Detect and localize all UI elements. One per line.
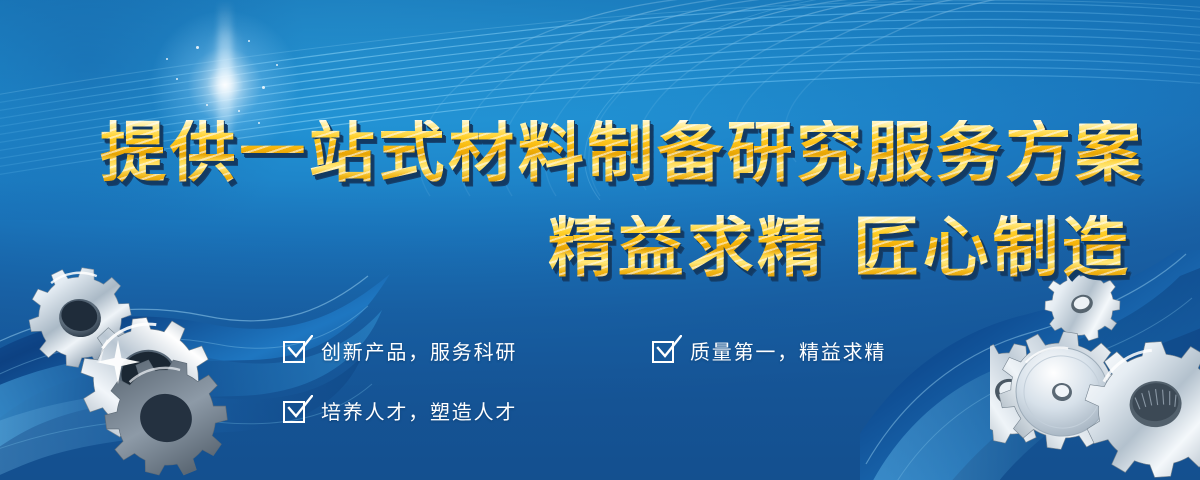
headline-line-2: 精益求精 匠心制造: [548, 215, 1132, 281]
bullet-item-talent: 培养人才，塑造人才: [283, 396, 517, 425]
checkbox-checked-icon: [283, 399, 307, 423]
headline-line-1: 提供一站式材料制备研究服务方案: [100, 120, 1144, 186]
bullet-label: 创新产品，服务科研: [321, 336, 517, 365]
checkbox-checked-icon: [652, 339, 676, 363]
bullet-label: 培养人才，塑造人才: [321, 396, 517, 425]
checkbox-checked-icon: [283, 339, 307, 363]
gear-cluster-icon: [18, 266, 248, 480]
bullet-item-quality: 质量第一，精益求精: [652, 336, 886, 365]
promo-banner: 提供一站式材料制备研究服务方案 精益求精 匠心制造 创新产品，服务科研 质量第一…: [0, 0, 1200, 480]
bullet-item-innovation: 创新产品，服务科研: [283, 336, 517, 365]
gear-cluster-icon: [990, 272, 1200, 480]
bullet-label: 质量第一，精益求精: [690, 336, 886, 365]
